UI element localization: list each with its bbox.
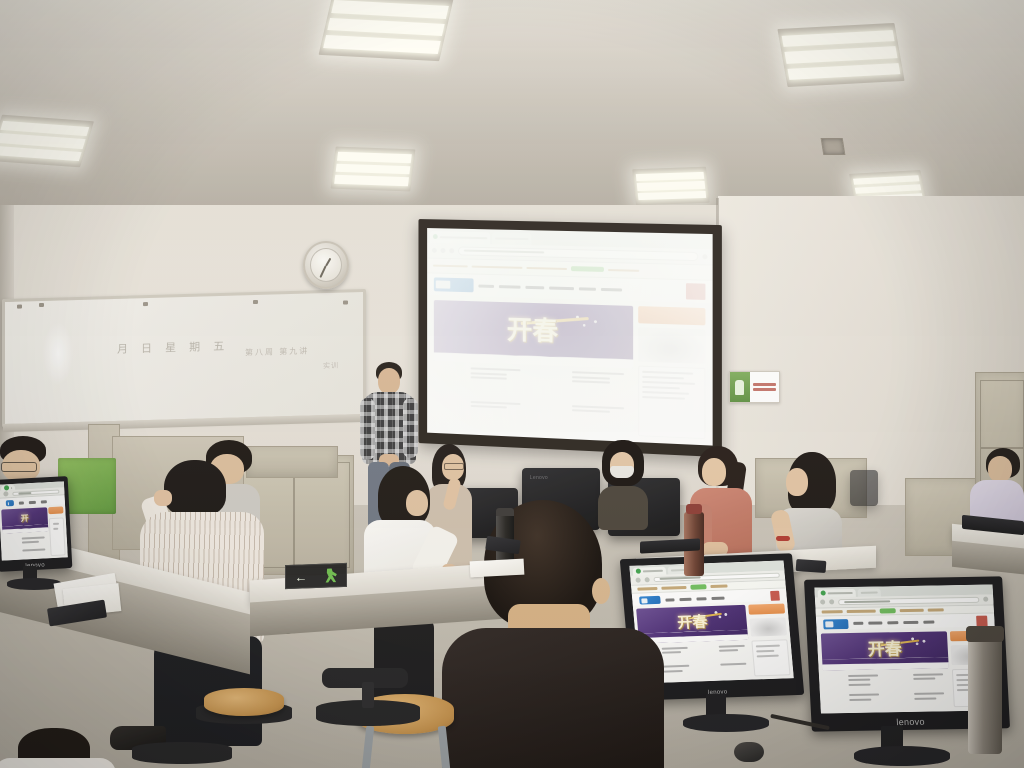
banner-wave-shape (434, 344, 633, 369)
nav-item[interactable] (549, 286, 574, 290)
monitor-back-far-right (850, 470, 878, 506)
bookmark-highlight[interactable] (571, 266, 604, 272)
smartphone-right-desk[interactable] (796, 559, 827, 573)
stool-leg (362, 726, 375, 768)
ceiling-light-2 (777, 23, 904, 87)
forward-arrow-icon[interactable] (441, 248, 446, 253)
card-column (535, 369, 633, 436)
instructor-arm-left (360, 398, 375, 460)
monitor-screen[interactable]: 开 (0, 481, 68, 561)
chair-post (362, 682, 374, 708)
article-card[interactable] (434, 398, 530, 431)
student-head (702, 458, 726, 486)
sidebar-illustration (639, 327, 706, 363)
site-logo[interactable] (434, 277, 474, 292)
address-input[interactable] (458, 246, 698, 261)
student-bottom-left-corner (0, 620, 124, 768)
site-body: 开春 (427, 295, 713, 446)
thermos-cap-right (966, 626, 1004, 642)
fire-safety-sign-text (750, 372, 779, 402)
address-text (464, 250, 545, 254)
running-man-icon (325, 568, 338, 582)
mouse[interactable] (734, 742, 764, 762)
nav-item[interactable] (525, 285, 544, 289)
instructor-head (378, 368, 400, 394)
menu-icon[interactable] (702, 254, 707, 259)
article-card[interactable] (434, 365, 530, 398)
steel-thermos-right (968, 636, 1002, 754)
ceiling-light-3 (0, 115, 94, 168)
bookmark-item[interactable] (471, 265, 522, 269)
student-head (988, 456, 1012, 482)
article-thumbnail (434, 398, 466, 399)
monitor-base (854, 746, 950, 766)
student-foreground-black (442, 500, 672, 768)
article-thumbnail (535, 402, 568, 403)
monitor-left-edge: 开 lenovo (0, 476, 72, 572)
whiteboard-clip (343, 300, 348, 304)
fire-safety-sign (729, 371, 780, 403)
projection-screen: 开春 (418, 219, 721, 457)
student-leg (374, 618, 434, 702)
chair-base-front (132, 742, 232, 764)
whiteboard-glare (43, 322, 73, 385)
article-card-grid (434, 365, 633, 436)
article-text (572, 370, 633, 384)
ceiling-light-1 (319, 0, 454, 61)
left-arrow-icon: ← (295, 570, 308, 583)
article-text (572, 404, 633, 414)
banner-headline: 开春 (507, 310, 558, 349)
emergency-exit-sign: ← (285, 563, 347, 589)
monitor-brand-label: Lenovo (530, 475, 548, 481)
student-glasses-icon (1, 462, 37, 472)
stool-seat-left[interactable] (204, 688, 284, 716)
browser-tab-title (440, 236, 488, 239)
cabinet-door (980, 380, 1024, 448)
nav-item[interactable] (579, 287, 596, 290)
ceiling-light-4 (331, 147, 416, 192)
whiteboard: 月 日 星 期 五 第八周 第九讲 实训 (2, 289, 366, 427)
whiteboard-clip (143, 302, 148, 306)
hero-banner[interactable]: 开春 (434, 300, 633, 368)
nav-item[interactable] (601, 288, 622, 292)
browser-tab-title (495, 237, 528, 240)
article-thumbnail (535, 369, 568, 370)
nav-item[interactable] (499, 285, 521, 289)
bottle-cap (686, 504, 702, 514)
face-mask-icon (610, 466, 634, 478)
thermos-lid (496, 508, 514, 516)
student-dark-shirt (442, 628, 664, 768)
article-thumbnail (434, 365, 466, 366)
whiteboard-faint-text-1: 月 日 星 期 五 (117, 338, 229, 357)
extinguisher-icon (730, 372, 750, 402)
whiteboard-faint-text-2: 第八周 第九讲 (245, 346, 309, 359)
article-text (470, 367, 530, 381)
browser-tab[interactable] (430, 231, 491, 244)
bookmark-item[interactable] (608, 269, 638, 272)
student-head (786, 468, 808, 496)
projected-browser-window: 开春 (427, 228, 713, 446)
card-column (434, 365, 530, 431)
sidebar-link-list[interactable] (639, 365, 706, 439)
clock-face (310, 248, 342, 282)
site-seal-icon (686, 283, 706, 300)
bookmark-item[interactable] (526, 267, 567, 271)
whiteboard-clip (253, 300, 258, 304)
site-nav-menu[interactable] (478, 284, 680, 293)
ceiling-vent (821, 138, 846, 155)
paper-sheet-front (470, 559, 525, 578)
student-hand (154, 490, 172, 506)
wall-clock (303, 241, 349, 289)
article-text (470, 400, 530, 410)
whiteboard-clip (17, 305, 22, 309)
student-top (0, 758, 116, 768)
classroom-photo: 月 日 星 期 五 第八周 第九讲 实训 (0, 0, 1024, 768)
nav-item[interactable] (478, 284, 494, 287)
article-card[interactable] (535, 369, 633, 402)
back-arrow-icon[interactable] (432, 248, 437, 253)
favicon-icon (433, 234, 438, 239)
ceiling-light-5 (632, 167, 710, 206)
instructor-arm-right (403, 398, 418, 458)
student-bracelet (776, 536, 790, 541)
projection-screen-surface: 开春 (427, 228, 713, 446)
whiteboard-faint-text-3: 实训 (323, 361, 339, 371)
article-card[interactable] (535, 402, 633, 436)
stool-leg (438, 726, 451, 768)
clock-minute-hand (320, 265, 327, 277)
bookmark-item[interactable] (433, 264, 468, 267)
sidebar-cta-button[interactable] (639, 306, 706, 325)
site-sidebar (639, 306, 706, 439)
browser-tab[interactable] (493, 233, 532, 245)
monitor-base (683, 714, 769, 732)
student-ear (592, 578, 610, 604)
student-head (406, 490, 428, 516)
whiteboard-clip (39, 303, 44, 307)
reload-icon[interactable] (449, 248, 454, 253)
student-hair (164, 460, 226, 516)
site-main-column: 开春 (434, 300, 633, 436)
